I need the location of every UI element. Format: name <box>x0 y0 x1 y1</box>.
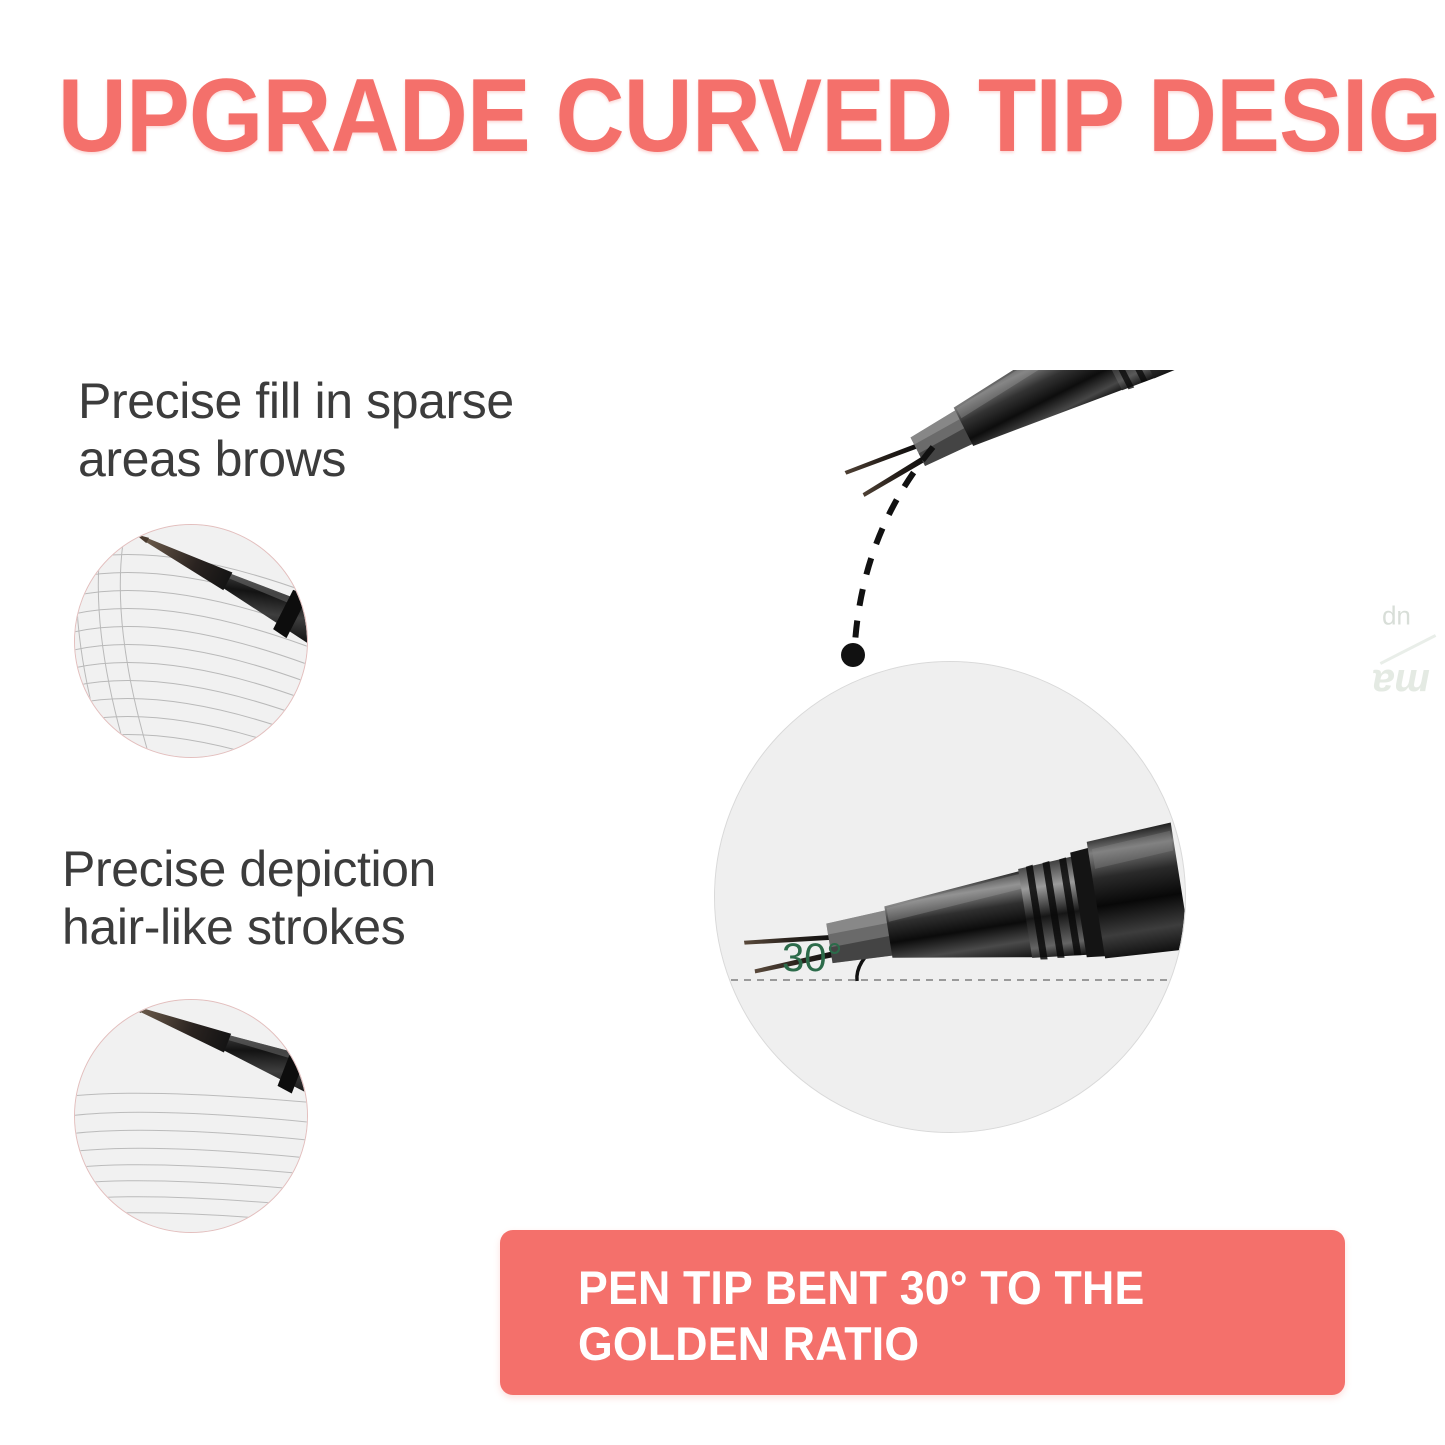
leader-line <box>815 435 975 675</box>
feature-caption-hair-like-strokes: Precise depiction hair-like strokes <box>62 840 622 956</box>
bottom-banner: PEN TIP BENT 30° TO THE GOLDEN RATIO <box>500 1230 1345 1395</box>
infographic-canvas: UPGRADE CURVED TIP DESIGN Precise fill i… <box>0 0 1445 1445</box>
magnifier-circle <box>714 661 1186 1133</box>
hair-like-strokes-inset <box>74 999 308 1233</box>
bottom-banner-text: PEN TIP BENT 30° TO THE GOLDEN RATIO <box>578 1260 1272 1372</box>
sparse-brow-fill-inset <box>74 524 308 758</box>
angle-label-30-degrees: 30° <box>782 938 843 978</box>
leader-dashed-curve <box>815 435 975 675</box>
sparse-brow-illustration <box>75 525 307 757</box>
magnified-pen-tip-illustration <box>715 662 1185 1132</box>
hair-like-strokes-illustration <box>75 1000 307 1232</box>
feature-caption-sparse-brows: Precise fill in sparse areas brows <box>78 372 678 488</box>
page-title: UPGRADE CURVED TIP DESIGN <box>58 62 1387 170</box>
